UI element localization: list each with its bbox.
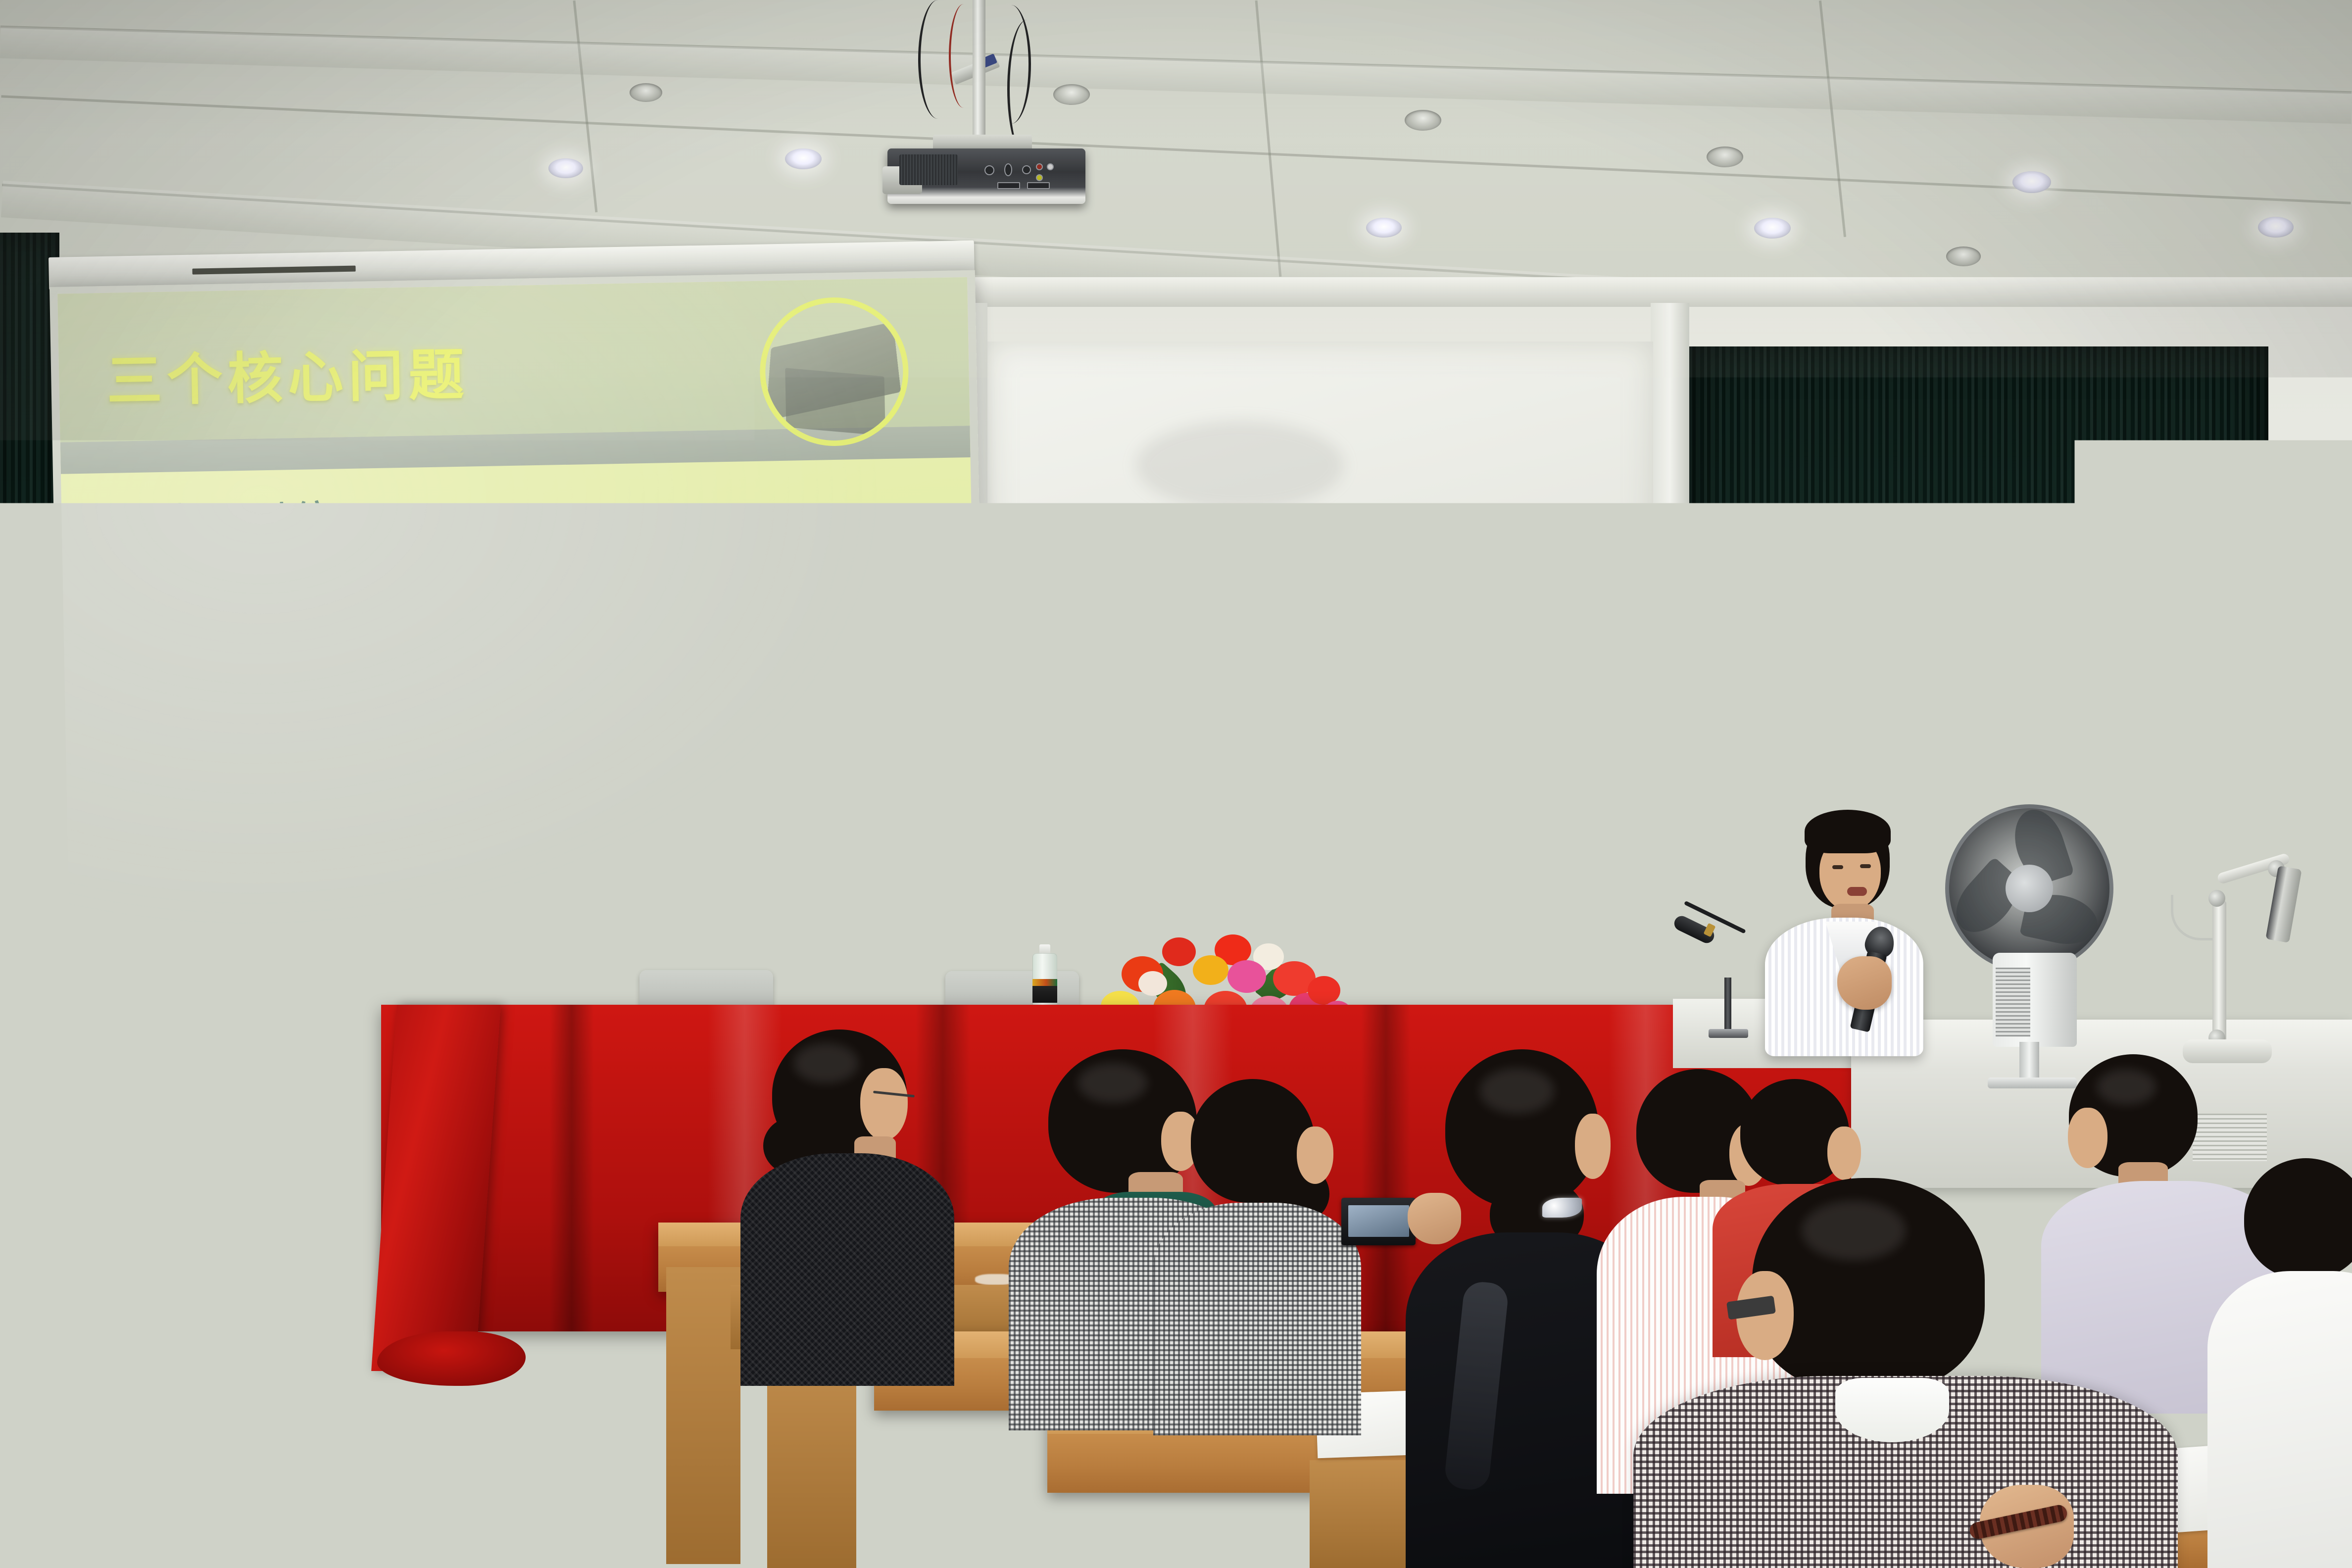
projector-vent (899, 154, 958, 185)
slide-bullet-5-text: ②教育思想和教育理念。 (164, 824, 581, 883)
slide-bullet-4: 是学校的生命线，教学是学校的中心工作。 (163, 748, 888, 813)
audience-person-white (0, 1029, 163, 1568)
slide-bullet-4-text: 是学校的生命线，教学是学校的中心工作。 (163, 748, 888, 813)
ceiling-downlight-on (1366, 218, 1402, 238)
slide-bullet-2: ➤ 主体：教师、学生、管理者 (124, 598, 636, 662)
slide-bullet-5: ②教育思想和教育理念。 (164, 824, 581, 883)
projector-body (887, 148, 1085, 204)
ceiling-downlight-off (1946, 246, 1981, 266)
fan-motor-housing (1993, 953, 2077, 1047)
presentation-slide: 三个核心问题 ❖ 认识到位 ➤ 主体：教师、学生、管理者 ➤ 客体：①人才培养是… (57, 277, 980, 992)
ceiling-downlight-off (1405, 110, 1441, 131)
ceiling-downlight-on (2258, 217, 2294, 238)
projection-screen: 三个核心问题 ❖ 认识到位 ➤ 主体：教师、学生、管理者 ➤ 客体：①人才培养是… (49, 270, 988, 1000)
bullet-marker-arrow: ➤ (125, 691, 145, 715)
pedestal-fan[interactable] (1945, 804, 2143, 1091)
chalk-tray (982, 915, 1685, 926)
audience-person-edge (2212, 1158, 2352, 1568)
fan-hub (2006, 865, 2053, 912)
bullet-marker-diamond: ❖ (107, 500, 134, 531)
lecture-hall-photo: 三个核心问题 ❖ 认识到位 ➤ 主体：教师、学生、管理者 ➤ 客体：①人才培养是… (0, 0, 2352, 1568)
ceiling-downlight-off (630, 83, 662, 102)
ceiling-downlight-on (785, 148, 822, 169)
audience-person-back-center (1277, 993, 1440, 1171)
ceiling-downlight-off (1707, 147, 1743, 167)
chalkboard (989, 579, 1678, 911)
ceiling-downlight-on (2012, 171, 2051, 193)
ceiling-projector (859, 0, 1116, 238)
audience-woman-glasses (746, 1029, 954, 1376)
ceiling-downlight-on (548, 158, 583, 178)
chalkboard-frame (982, 572, 1685, 918)
bench-leg (666, 1267, 740, 1564)
audience-man-checkered (1653, 1178, 2158, 1568)
slide-title: 三个核心问题 (106, 330, 470, 417)
bullet-marker-arrow: ➤ (124, 607, 143, 631)
bench-leg (1310, 1460, 1414, 1568)
shirt-collar (1835, 1378, 1949, 1442)
slide-bullet-3-text: 客体：①人才培养是高校的根本任务，质量 (161, 677, 911, 745)
document-camera[interactable] (2153, 832, 2316, 1064)
head-table-drape-pool (377, 1331, 526, 1386)
slide-bullet-1: ❖ 认识到位 (107, 496, 338, 551)
bow-hairclip (1542, 1198, 1582, 1218)
presenter-hand (1837, 956, 1892, 1010)
bench-leg (767, 1356, 856, 1568)
slide-bullet-3: ➤ 客体：①人才培养是高校的根本任务，质量 (125, 677, 910, 746)
ceiling-downlight-on (1754, 218, 1791, 239)
slide-bullet-2-text: 主体：教师、学生、管理者 (159, 598, 636, 661)
slide-bullet-1-text: 认识到位 (150, 496, 338, 550)
